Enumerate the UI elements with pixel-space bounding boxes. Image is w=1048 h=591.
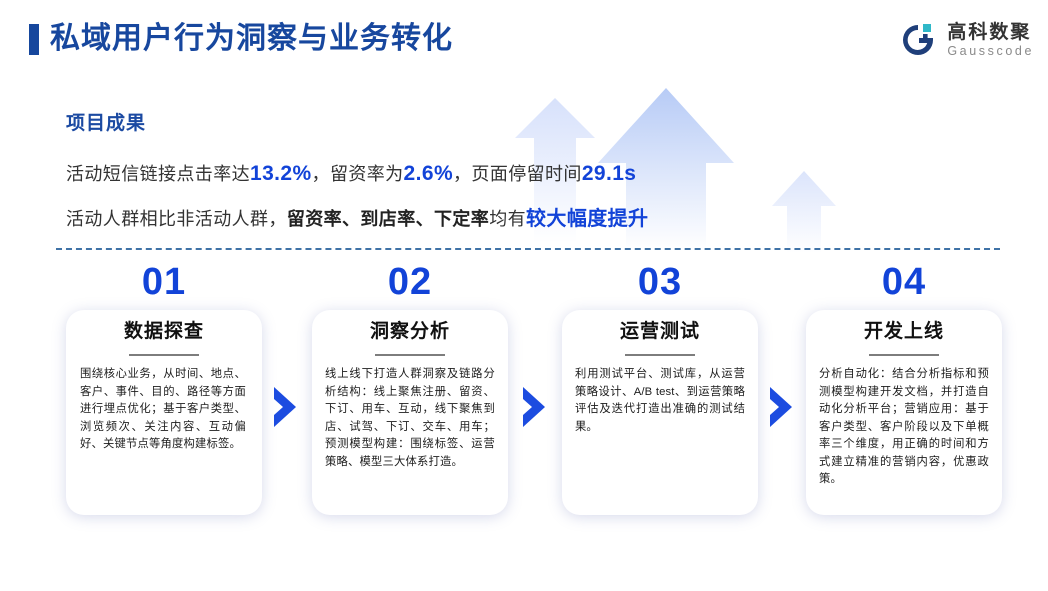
step-card-panel: 洞察分析 线上线下打造人群洞察及链路分析结构：线上聚焦注册、留资、下订、用车、互… (312, 310, 508, 515)
logo-name-cn: 高科数聚 (947, 22, 1034, 43)
logo-mark-icon (898, 21, 940, 59)
step-card-panel: 数据探查 围绕核心业务，从时间、地点、客户、事件、目的、路径等方面进行埋点优化；… (66, 310, 262, 515)
step-title: 运营测试 (562, 320, 758, 344)
step-body: 围绕核心业务，从时间、地点、客户、事件、目的、路径等方面进行埋点优化；基于客户类… (80, 366, 246, 454)
step-title-rule (625, 354, 695, 356)
step-body: 线上线下打造人群洞察及链路分析结构：线上聚焦注册、留资、下订、用车、互动，线下聚… (325, 366, 495, 471)
results-l2-highlight: 较大幅度提升 (526, 208, 648, 230)
results-l1-text-2: ，留资率为 (312, 164, 404, 184)
results-line-1: 活动短信链接点击率达13.2%，留资率为2.6%，页面停留时间29.1s (66, 160, 636, 186)
results-l2-text-1: 活动人群相比非活动人群， (66, 209, 287, 229)
step-body: 利用测试平台、测试库，从运营策略设计、A/B test、到运营策略评估及迭代打造… (575, 366, 745, 436)
chevron-right-icon (519, 385, 549, 429)
step-card-04[interactable]: 04 开发上线 分析自动化：结合分析指标和预测模型构建开发文档，并打造自动化分析… (806, 262, 1002, 530)
page-title: 私域用户行为洞察与业务转化 (50, 20, 453, 58)
step-number: 02 (312, 262, 508, 302)
results-leadrate-value: 2.6% (404, 162, 453, 185)
step-card-panel: 运营测试 利用测试平台、测试库，从运营策略设计、A/B test、到运营策略评估… (562, 310, 758, 515)
step-title-rule (869, 354, 939, 356)
step-title-rule (375, 354, 445, 356)
chevron-right-icon (766, 385, 796, 429)
results-l1-text-1: 活动短信链接点击率达 (66, 164, 250, 184)
chevron-right-icon (270, 385, 300, 429)
step-card-panel: 开发上线 分析自动化：结合分析指标和预测模型构建开发文档，并打造自动化分析平台；… (806, 310, 1002, 515)
results-l2-text-2: 均有 (489, 209, 526, 229)
results-line-2: 活动人群相比非活动人群，留资率、到店率、下定率均有较大幅度提升 (66, 202, 648, 231)
results-heading: 项目成果 (66, 108, 146, 135)
results-l2-metrics: 留资率、到店率、下定率 (287, 209, 489, 229)
step-body: 分析自动化：结合分析指标和预测模型构建开发文档，并打造自动化分析平台；营销应用：… (819, 366, 989, 489)
step-card-02[interactable]: 02 洞察分析 线上线下打造人群洞察及链路分析结构：线上聚焦注册、留资、下订、用… (312, 262, 508, 530)
title-bullet-mark (29, 24, 39, 55)
logo-name-en: Gausscode (947, 44, 1034, 59)
section-divider (56, 248, 1000, 250)
step-number: 03 (562, 262, 758, 302)
step-title: 数据探查 (66, 320, 262, 344)
step-card-03[interactable]: 03 运营测试 利用测试平台、测试库，从运营策略设计、A/B test、到运营策… (562, 262, 758, 530)
step-number: 01 (66, 262, 262, 302)
step-title: 洞察分析 (312, 320, 508, 344)
step-number: 04 (806, 262, 1002, 302)
step-title-rule (129, 354, 199, 356)
slide-header: 私域用户行为洞察与业务转化 高科数聚 Gausscode (0, 0, 1048, 78)
results-dwelltime-value: 29.1s (582, 162, 637, 185)
brand-logo: 高科数聚 Gausscode (898, 16, 1034, 64)
logo-text-block: 高科数聚 Gausscode (947, 22, 1034, 59)
slide-root: 私域用户行为洞察与业务转化 高科数聚 Gausscode (0, 0, 1048, 591)
results-ctr-value: 13.2% (250, 162, 312, 185)
results-l1-text-3: ，页面停留时间 (453, 164, 582, 184)
step-title: 开发上线 (806, 320, 1002, 344)
step-card-01[interactable]: 01 数据探查 围绕核心业务，从时间、地点、客户、事件、目的、路径等方面进行埋点… (66, 262, 262, 530)
